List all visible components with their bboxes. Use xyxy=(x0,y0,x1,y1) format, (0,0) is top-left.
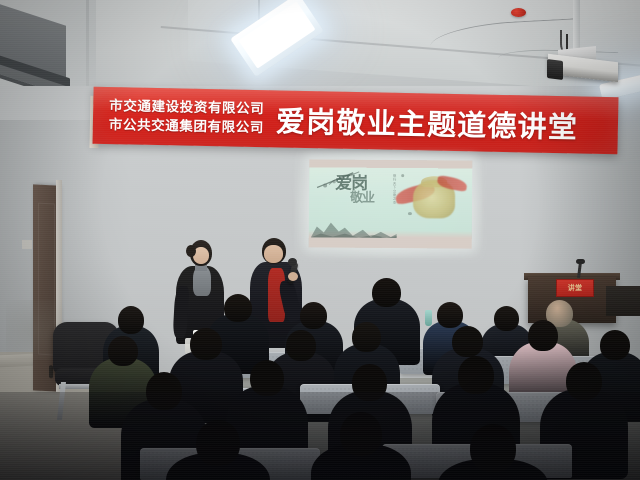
audience-member-head xyxy=(470,424,516,472)
wall-notice xyxy=(22,240,32,249)
projected-slide: 爱岗 敬业 德行天下立身之本 xyxy=(309,159,473,248)
projector-lens-icon xyxy=(547,59,563,80)
event-banner: 市交通建设投资有限公司 市公共交通集团有限公司 爱岗敬业主题道德讲堂 xyxy=(92,87,618,155)
audience-member-head xyxy=(340,412,382,456)
ink-landscape-icon xyxy=(311,215,397,238)
water-bottle xyxy=(425,310,432,326)
audience-member-head xyxy=(352,364,387,401)
podium-side-equipment xyxy=(606,286,640,316)
audience-member-head xyxy=(300,302,327,329)
photo-scene: 市交通建设投资有限公司 市公共交通集团有限公司 爱岗敬业主题道德讲堂 爱岗 xyxy=(0,0,640,480)
presenter-man-hand xyxy=(288,272,298,281)
audience-member-head xyxy=(372,278,401,307)
audience-member-head xyxy=(566,362,602,400)
slide-calligraphy-sub: 敬业 xyxy=(350,191,374,203)
audience-member-head xyxy=(196,420,240,466)
audience-member-head xyxy=(452,326,483,357)
presenter-man-face xyxy=(264,245,283,263)
podium-plaque-text: 讲堂 xyxy=(568,283,583,293)
banner-org-line-2: 市公共交通集团有限公司 xyxy=(109,116,264,137)
slide-calligraphy: 爱岗 敬业 xyxy=(335,176,374,204)
banner-headline: 爱岗敬业主题道德讲堂 xyxy=(276,98,579,146)
audience-member-head xyxy=(437,302,463,328)
podium-plaque: 讲堂 xyxy=(556,279,594,297)
banner-org-block: 市交通建设投资有限公司 市公共交通集团有限公司 xyxy=(93,97,265,137)
audience-member-head xyxy=(146,372,182,410)
microphone-head xyxy=(288,258,297,266)
audience-member-head xyxy=(118,306,144,334)
slide-artwork: 爱岗 敬业 德行天下立身之本 xyxy=(309,167,472,238)
slide-ink-dot-2 xyxy=(408,212,412,215)
slide-ink-dot xyxy=(401,174,404,177)
banner-org-line-1: 市交通建设投资有限公司 xyxy=(109,97,264,118)
audience-member-head xyxy=(108,336,138,366)
audience-member-head xyxy=(352,322,381,352)
smoke-detector-icon xyxy=(511,8,526,17)
audience-member-head xyxy=(458,356,494,394)
audience-member-head xyxy=(600,330,630,360)
audience-member-head xyxy=(250,360,284,396)
presenter-woman-hair-bun xyxy=(186,245,196,257)
podium-microphone-head-icon xyxy=(576,259,585,264)
audience-member-head xyxy=(494,306,519,331)
audience-member-head xyxy=(224,294,252,322)
audience-member-head xyxy=(286,330,316,361)
audience-member-head xyxy=(190,328,222,360)
audience-member-head xyxy=(528,320,558,351)
